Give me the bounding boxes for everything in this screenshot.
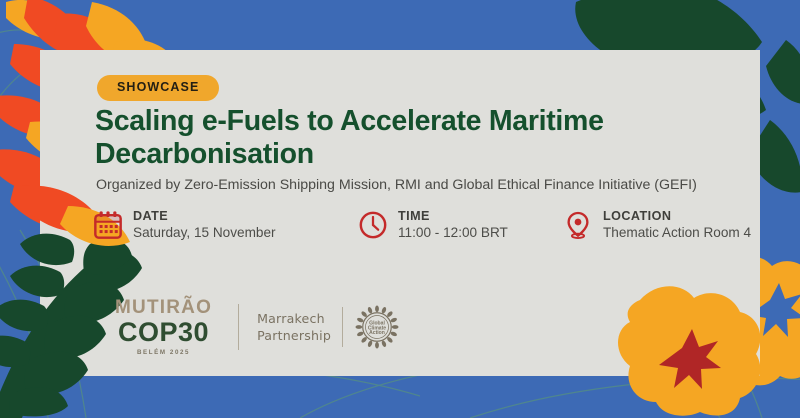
detail-date: DATE Saturday, 15 November: [93, 208, 276, 242]
page-title: Scaling e-Fuels to Accelerate Maritime D…: [95, 105, 715, 172]
time-label: TIME: [398, 208, 508, 224]
calendar-icon: [93, 209, 123, 241]
clock-icon: [358, 209, 388, 241]
event-banner: SHOWCASE Scaling e-Fuels to Accelerate M…: [0, 0, 800, 418]
time-value: 11:00 - 12:00 BRT: [398, 224, 508, 242]
title-line-2: Decarbonisation: [95, 138, 314, 170]
event-details-row: DATE Saturday, 15 November TIME 11:00 - …: [93, 208, 753, 252]
marrakech-line-2: Partnership: [257, 327, 331, 344]
cop30-mutirao-text: MUTIRÃO: [115, 298, 212, 317]
title-line-1: Scaling e-Fuels to Accelerate Maritime: [95, 105, 604, 137]
cop30-logo: MUTIRÃO COP30 BELÉM 2025: [115, 298, 212, 356]
location-value: Thematic Action Room 4: [603, 224, 751, 242]
location-label: LOCATION: [603, 208, 751, 224]
logo-divider: [238, 304, 239, 350]
showcase-badge: SHOWCASE: [97, 75, 219, 101]
marrakech-partnership-text: Marrakech Partnership: [257, 310, 331, 344]
global-climate-action-icon: Global Climate Action: [354, 304, 400, 350]
organizers-text: Organized by Zero-Emission Shipping Miss…: [96, 176, 756, 194]
marrakech-line-1: Marrakech: [257, 310, 331, 327]
marrakech-partnership-logo: Marrakech Partnership Global Climate Act…: [257, 304, 400, 350]
date-value: Saturday, 15 November: [133, 224, 276, 242]
logo-row: MUTIRÃO COP30 BELÉM 2025 Marrakech Partn…: [115, 298, 400, 356]
date-label: DATE: [133, 208, 276, 224]
detail-location: LOCATION Thematic Action Room 4: [563, 208, 751, 242]
marrakech-divider: [342, 307, 343, 347]
cop30-text: COP30: [118, 319, 209, 346]
location-pin-icon: [563, 209, 593, 241]
detail-time: TIME 11:00 - 12:00 BRT: [358, 208, 508, 242]
gca-line-3: Action: [369, 330, 385, 336]
cop30-belem-text: BELÉM 2025: [137, 350, 190, 356]
